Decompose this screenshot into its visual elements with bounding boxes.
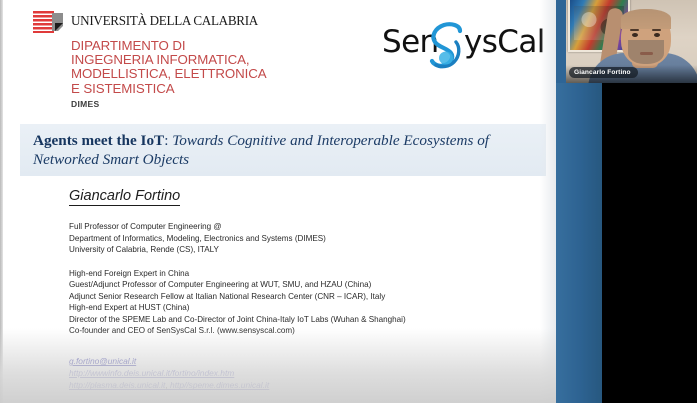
speme-lab-link[interactable]: http//speme.dimes.unical.it	[170, 380, 269, 390]
department-line-1: DIPARTIMENTO DI	[71, 39, 333, 53]
department-name: DIPARTIMENTO DI INGEGNERIA INFORMATICA, …	[71, 39, 333, 96]
department-acronym: DIMES	[71, 99, 333, 109]
university-name: UNIVERSITÀ DELLA CALABRIA	[71, 11, 258, 29]
homepage-link[interactable]: http://wwwinfo.deis.unical.it/fortino/in…	[69, 367, 269, 379]
role-line: Adjunct Senior Research Fellow at Italia…	[69, 291, 406, 302]
participant-hair	[621, 9, 671, 29]
role-line: Guest/Adjunct Professor of Computer Engi…	[69, 279, 406, 290]
role-line: Director of the SPEME Lab and Co-Directo…	[69, 314, 406, 325]
role-line: High-end Expert at HUST (China)	[69, 302, 406, 313]
participant-eye-left	[632, 33, 638, 37]
affiliation-line: Full Professor of Computer Engineering @	[69, 221, 326, 233]
participant-name-label: Giancarlo Fortino	[569, 67, 638, 79]
affiliation-line: Department of Informatics, Modeling, Ele…	[69, 233, 326, 245]
slide-title-separator: :	[164, 132, 172, 149]
department-line-3: MODELLISTICA, ELETTRONICA	[71, 67, 333, 81]
screen-share-view: UNIVERSITÀ DELLA CALABRIA DIPARTIMENTO D…	[0, 0, 697, 403]
slide-title-bold: Agents meet the IoT	[33, 132, 164, 149]
role-line: High-end Foreign Expert in China	[69, 268, 406, 279]
sensyscal-s-swirl-icon	[429, 22, 467, 74]
slide-title-banner: Agents meet the IoT: Towards Cognitive a…	[20, 124, 546, 176]
participant-eyebrow-right	[652, 29, 661, 31]
contact-links: g.fortino@unical.it http://wwwinfo.deis.…	[69, 355, 269, 392]
university-row: UNIVERSITÀ DELLA CALABRIA	[33, 11, 333, 33]
participant-eyebrow-left	[630, 29, 639, 31]
role-line: Co-founder and CEO of SenSysCal S.r.l. (…	[69, 325, 406, 336]
participant-mouth	[640, 52, 653, 55]
webcam-panel-left-bar	[556, 0, 566, 83]
department-line-4: E SISTEMISTICA	[71, 82, 333, 96]
unical-logo-icon	[33, 11, 63, 33]
sensyscal-logo: Sen ysCal	[382, 20, 556, 82]
affiliation-block: Full Professor of Computer Engineering @…	[69, 221, 326, 256]
email-link[interactable]: g.fortino@unical.it	[69, 355, 269, 367]
slide-title: Agents meet the IoT: Towards Cognitive a…	[20, 131, 546, 170]
participant-eye-right	[654, 33, 660, 37]
shared-presentation-slide[interactable]: UNIVERSITÀ DELLA CALABRIA DIPARTIMENTO D…	[0, 0, 556, 403]
sensyscal-logo-text-right: ysCal	[464, 24, 545, 60]
slide-header: UNIVERSITÀ DELLA CALABRIA DIPARTIMENTO D…	[33, 11, 333, 109]
logo-stripes	[33, 11, 54, 33]
plasma-lab-link[interactable]: http://plasma.deis.unical.it	[69, 380, 165, 390]
slide-left-edge	[0, 0, 3, 403]
affiliation-line: University of Calabria, Rende (CS), ITAL…	[69, 244, 326, 256]
participant-video-tile[interactable]: Giancarlo Fortino	[566, 0, 697, 83]
lab-links-row: http://plasma.deis.unical.it, http//spem…	[69, 379, 269, 391]
author-name: Giancarlo Fortino	[69, 188, 180, 206]
department-line-2: INGEGNERIA INFORMATICA,	[71, 53, 333, 67]
roles-block: High-end Foreign Expert in China Guest/A…	[69, 268, 406, 336]
